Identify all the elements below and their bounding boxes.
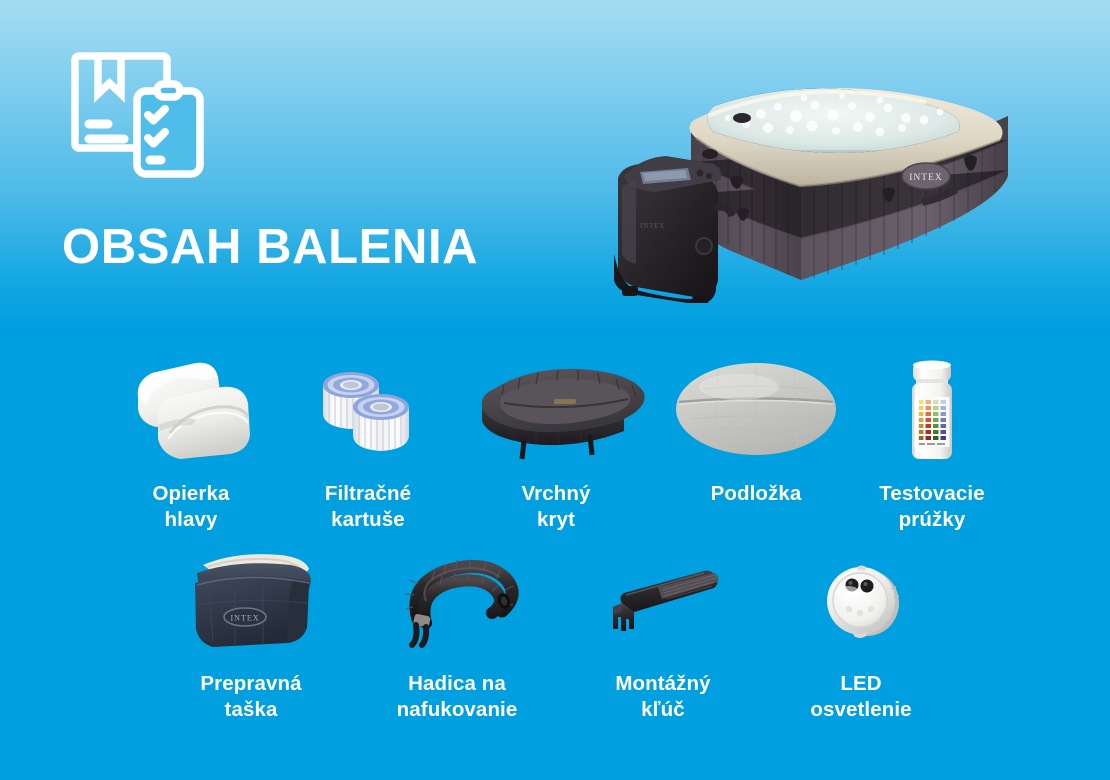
hot-tub-product-image: INTEX xyxy=(596,58,1036,303)
accessory-row-one: Opierka hlavy xyxy=(0,358,1110,533)
test-strips-icon xyxy=(901,358,963,464)
item-label: Testovacie prúžky xyxy=(879,481,984,533)
headrest-icon xyxy=(126,358,256,464)
item-label: Vrchný kryt xyxy=(522,481,591,533)
item-led-light[interactable]: LED osvetlenie xyxy=(763,548,959,723)
item-inflation-hose[interactable]: Hadica na nafukovanie xyxy=(351,548,563,723)
item-test-strips[interactable]: Testovacie prúžky xyxy=(852,358,1012,533)
svg-text:INTEX: INTEX xyxy=(640,222,665,230)
header: OBSAH BALENIA xyxy=(62,44,582,273)
item-label: Filtračné kartuše xyxy=(325,481,411,533)
item-label: LED osvetlenie xyxy=(810,671,911,723)
svg-text:INTEX: INTEX xyxy=(909,173,943,183)
item-headrest[interactable]: Opierka hlavy xyxy=(98,358,284,533)
carry-bag-icon: INTEX xyxy=(183,548,319,654)
package-checklist-icon xyxy=(62,44,214,196)
item-label: Podložka xyxy=(711,481,802,507)
page-title: OBSAH BALENIA xyxy=(62,222,582,273)
assembly-wrench-icon xyxy=(598,548,728,654)
item-filter-cartridges[interactable]: Filtračné kartuše xyxy=(284,358,452,533)
item-top-cover[interactable]: Vrchný kryt xyxy=(452,358,660,533)
item-label: Prepravná taška xyxy=(200,671,301,723)
packaging-contents-infographic: OBSAH BALENIA xyxy=(0,0,1110,780)
item-carry-bag[interactable]: INTEX Prepravná taška xyxy=(151,548,351,723)
accessory-row-two: INTEX Prepravná taška xyxy=(0,548,1110,723)
inflation-hose-icon xyxy=(392,548,522,654)
item-label: Opierka hlavy xyxy=(152,481,229,533)
filter-cartridge-icon xyxy=(309,358,427,464)
item-ground-mat[interactable]: Podložka xyxy=(660,358,852,507)
ground-mat-icon xyxy=(673,358,839,464)
svg-text:INTEX: INTEX xyxy=(231,614,260,623)
item-label: Hadica na nafukovanie xyxy=(397,671,518,723)
top-cover-icon xyxy=(458,358,654,464)
item-assembly-wrench[interactable]: Montážný kľúč xyxy=(563,548,763,723)
led-light-icon xyxy=(815,548,907,654)
item-label: Montážný kľúč xyxy=(615,671,710,723)
